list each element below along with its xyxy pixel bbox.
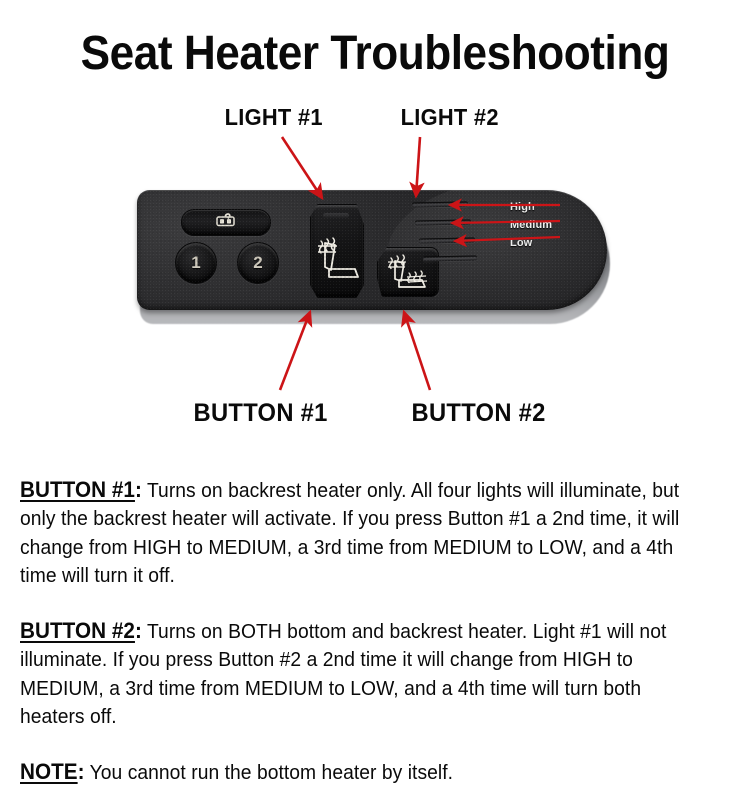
paragraph-button-1: BUTTON #1: Turns on backrest heater only…	[20, 476, 689, 591]
paragraph-note: NOTE: You cannot run the bottom heater b…	[20, 758, 689, 788]
led-indicator-3-medium	[419, 237, 475, 243]
led-label-high: High	[510, 201, 535, 214]
seat-control-panel: 1 2	[137, 190, 610, 325]
panel-face: 1 2	[137, 190, 607, 310]
paragraph-note-text: You cannot run the bottom heater by itse…	[85, 761, 453, 784]
page-title: Seat Heater Troubleshooting	[30, 26, 720, 82]
callout-label-light-2: LIGHT #2	[401, 104, 499, 130]
callout-label-button-2: BUTTON #2	[412, 400, 546, 426]
led-indicator-1	[412, 201, 468, 207]
paragraph-note-lead: NOTE	[20, 759, 78, 784]
button-1-backrest-heater[interactable]	[310, 204, 364, 298]
paragraph-button-2-colon: :	[135, 618, 142, 643]
callout-label-light-1: LIGHT #1	[225, 104, 323, 130]
seat-heater-control-diagram: LIGHT #1 LIGHT #2 BUTTON #1 BUTTON #2	[0, 90, 750, 440]
button-2-both-heaters[interactable]	[377, 247, 439, 297]
memory-preset-2-label: 2	[253, 253, 262, 273]
memory-preset-1-label: 1	[191, 253, 200, 273]
arrow-light-1	[282, 137, 322, 198]
memory-set-button[interactable]	[181, 209, 271, 236]
led-indicator-2-high	[415, 219, 471, 225]
seat-memory-icon	[209, 212, 243, 233]
instructions-body: BUTTON #1: Turns on backrest heater only…	[20, 455, 732, 808]
paragraph-button-2: BUTTON #2: Turns on BOTH bottom and back…	[20, 617, 689, 732]
button-1-notch	[323, 213, 349, 218]
paragraph-button-1-colon: :	[135, 477, 142, 502]
callout-label-button-1: BUTTON #1	[194, 400, 328, 426]
paragraph-button-2-lead: BUTTON #2	[20, 618, 135, 643]
led-label-medium: Medium	[510, 219, 552, 232]
panel-highlight	[387, 190, 607, 310]
paragraph-note-colon: :	[78, 759, 85, 784]
led-label-low: Low	[510, 237, 532, 250]
paragraph-button-1-lead: BUTTON #1	[20, 477, 135, 502]
arrow-light-2	[416, 137, 420, 196]
memory-preset-1-button[interactable]: 1	[175, 242, 217, 284]
memory-preset-2-button[interactable]: 2	[237, 242, 279, 284]
led-indicator-4-low	[423, 255, 477, 261]
